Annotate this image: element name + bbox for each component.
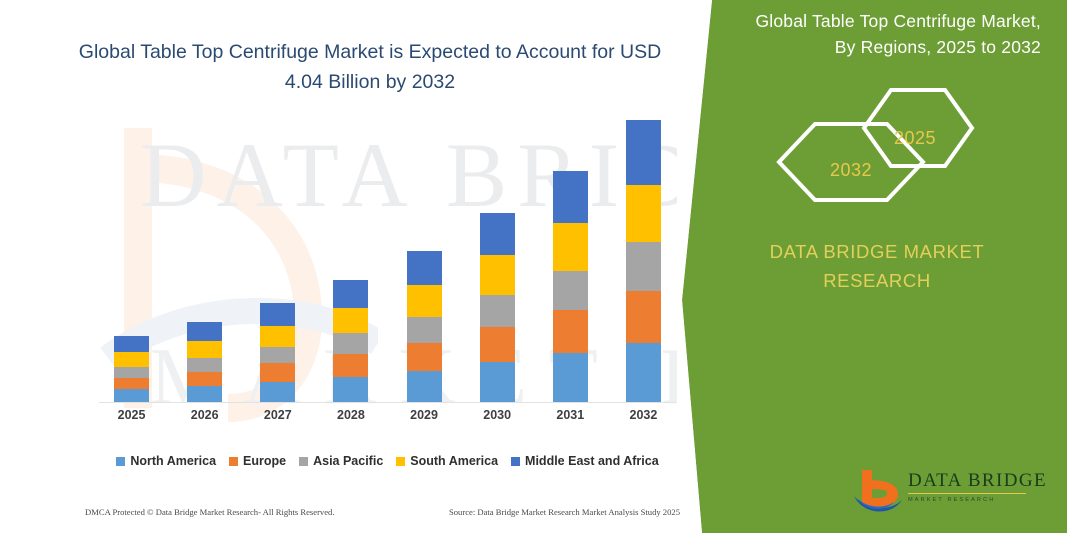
x-axis-label: 2028 bbox=[315, 408, 386, 422]
bar-segment bbox=[407, 251, 442, 285]
x-axis-label: 2031 bbox=[535, 408, 606, 422]
legend-swatch bbox=[116, 457, 125, 466]
stacked-bar bbox=[260, 303, 295, 403]
stacked-bar bbox=[480, 213, 515, 403]
bar-column bbox=[462, 120, 533, 403]
legend-label: Asia Pacific bbox=[313, 454, 383, 468]
bar-segment bbox=[333, 308, 368, 333]
bar-segment bbox=[260, 347, 295, 364]
legend-item[interactable]: South America bbox=[396, 454, 498, 468]
bar-segment bbox=[480, 327, 515, 362]
stacked-bar-chart: 20252026202720282029203020312032 bbox=[95, 120, 680, 425]
legend-swatch bbox=[299, 457, 308, 466]
bar-segment bbox=[480, 213, 515, 256]
bar-segment bbox=[333, 354, 368, 377]
bar-column bbox=[608, 120, 679, 403]
bar-segment bbox=[187, 341, 222, 359]
x-axis-labels: 20252026202720282029203020312032 bbox=[95, 405, 680, 425]
x-axis-label: 2029 bbox=[389, 408, 460, 422]
bar-segment bbox=[626, 343, 661, 403]
stacked-bar bbox=[114, 336, 149, 403]
chart-bars bbox=[95, 120, 680, 403]
bar-segment bbox=[626, 185, 661, 242]
x-axis-label: 2027 bbox=[242, 408, 313, 422]
legend-label: Middle East and Africa bbox=[525, 454, 659, 468]
bar-segment bbox=[553, 310, 588, 353]
footer-source: Source: Data Bridge Market Research Mark… bbox=[449, 507, 680, 517]
green-panel-shape bbox=[677, 0, 1067, 533]
bar-segment bbox=[553, 353, 588, 403]
legend-item[interactable]: Middle East and Africa bbox=[511, 454, 659, 468]
x-axis-label: 2026 bbox=[169, 408, 240, 422]
bar-column bbox=[169, 120, 240, 403]
legend-label: Europe bbox=[243, 454, 286, 468]
legend-label: North America bbox=[130, 454, 216, 468]
bar-segment bbox=[260, 382, 295, 403]
bar-segment bbox=[187, 372, 222, 387]
bar-segment bbox=[187, 386, 222, 403]
right-green-panel bbox=[677, 0, 1067, 533]
footer: DMCA Protected © Data Bridge Market Rese… bbox=[85, 507, 680, 517]
bar-segment bbox=[626, 120, 661, 185]
legend-item[interactable]: Europe bbox=[229, 454, 286, 468]
bar-segment bbox=[187, 322, 222, 341]
bar-column bbox=[242, 120, 313, 403]
bar-segment bbox=[553, 223, 588, 271]
legend-item[interactable]: Asia Pacific bbox=[299, 454, 383, 468]
legend-swatch bbox=[511, 457, 520, 466]
bar-segment bbox=[333, 377, 368, 403]
bar-segment bbox=[480, 362, 515, 403]
bar-column bbox=[535, 120, 606, 403]
bar-segment bbox=[553, 171, 588, 223]
bar-segment bbox=[480, 295, 515, 327]
infographic-root: DATA BRIDGE MARKET RESEARCH Global Table… bbox=[0, 0, 1067, 533]
bar-segment bbox=[114, 378, 149, 389]
x-axis-line bbox=[99, 402, 676, 403]
bar-segment bbox=[187, 358, 222, 372]
legend-swatch bbox=[229, 457, 238, 466]
bar-column bbox=[389, 120, 460, 403]
bar-segment bbox=[114, 352, 149, 367]
bar-segment bbox=[260, 363, 295, 382]
bar-segment bbox=[114, 389, 149, 403]
legend-swatch bbox=[396, 457, 405, 466]
x-axis-label: 2030 bbox=[462, 408, 533, 422]
bar-segment bbox=[626, 291, 661, 343]
legend-label: South America bbox=[410, 454, 498, 468]
bar-column bbox=[96, 120, 167, 403]
bar-segment bbox=[260, 303, 295, 326]
bar-segment bbox=[114, 336, 149, 352]
bar-segment bbox=[407, 343, 442, 371]
page-title: Global Table Top Centrifuge Market is Ex… bbox=[60, 38, 680, 97]
x-axis-label: 2032 bbox=[608, 408, 679, 422]
bar-segment bbox=[333, 280, 368, 308]
stacked-bar bbox=[553, 171, 588, 403]
bar-column bbox=[315, 120, 386, 403]
bar-segment bbox=[407, 285, 442, 316]
bar-segment bbox=[407, 317, 442, 343]
legend-item[interactable]: North America bbox=[116, 454, 216, 468]
bar-segment bbox=[114, 367, 149, 378]
bar-segment bbox=[260, 326, 295, 347]
bar-segment bbox=[480, 255, 515, 295]
footer-copyright: DMCA Protected © Data Bridge Market Rese… bbox=[85, 507, 335, 517]
stacked-bar bbox=[407, 251, 442, 403]
bar-segment bbox=[407, 371, 442, 403]
stacked-bar bbox=[333, 280, 368, 403]
x-axis-label: 2025 bbox=[96, 408, 167, 422]
stacked-bar bbox=[626, 120, 661, 403]
chart-legend: North AmericaEuropeAsia PacificSouth Ame… bbox=[95, 454, 680, 468]
stacked-bar bbox=[187, 322, 222, 403]
bar-segment bbox=[553, 271, 588, 311]
bar-segment bbox=[626, 242, 661, 291]
bar-segment bbox=[333, 333, 368, 354]
